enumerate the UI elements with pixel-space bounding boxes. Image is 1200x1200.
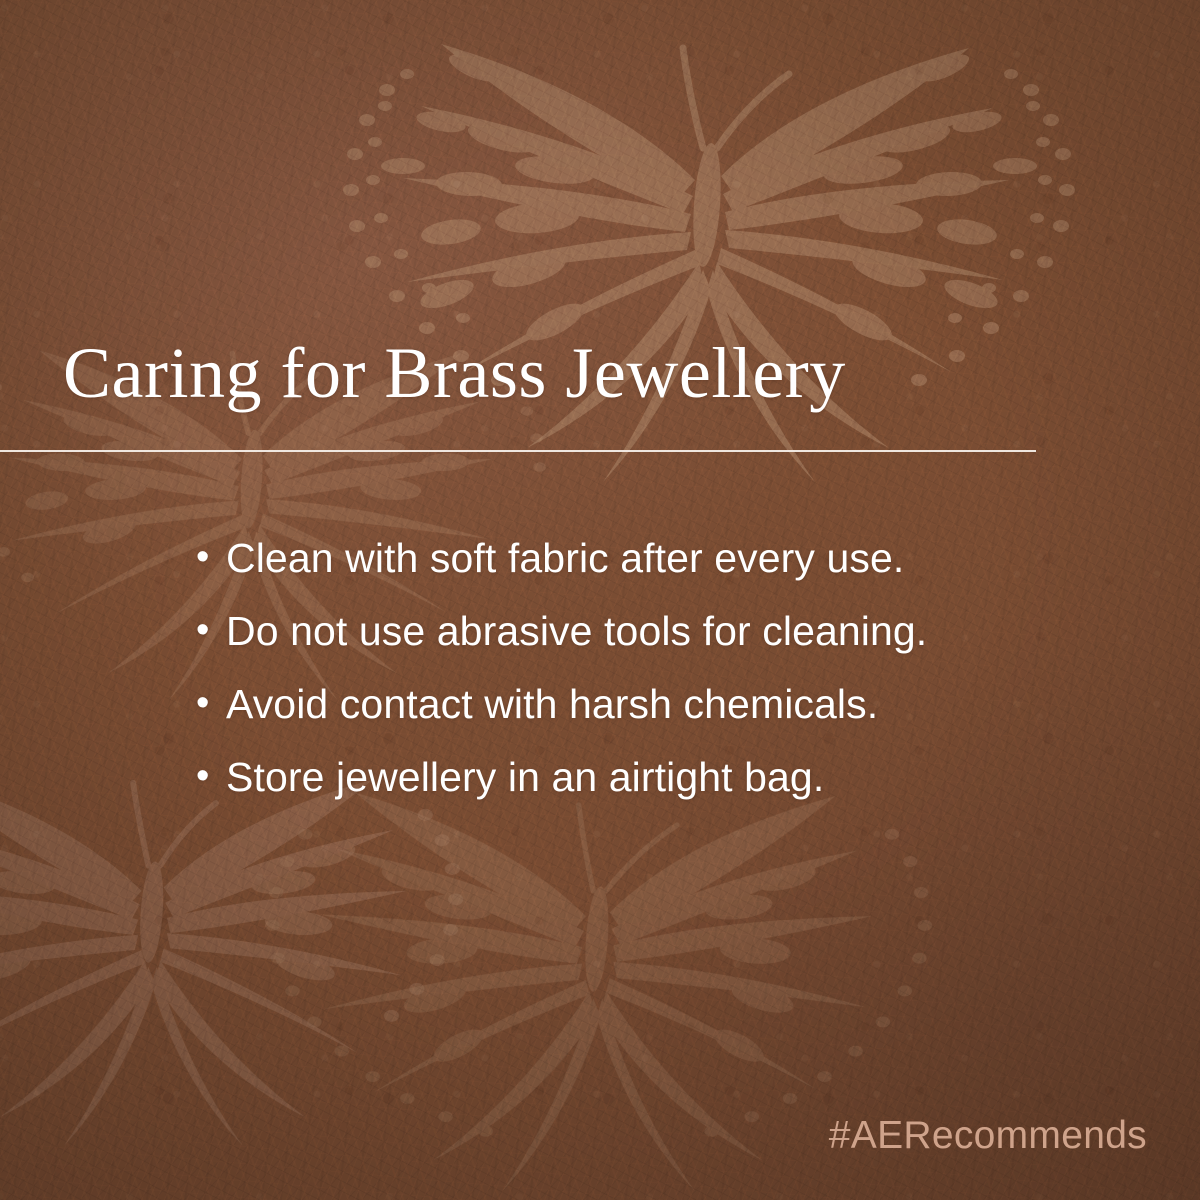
care-instructions-card: Caring for Brass Jewellery • Clean with … (0, 0, 1200, 1200)
card-content: Caring for Brass Jewellery • Clean with … (0, 0, 1200, 1200)
bullet-marker-icon: • (196, 538, 226, 576)
list-item-label: Clean with soft fabric after every use. (226, 538, 904, 579)
list-item: • Avoid contact with harsh chemicals. (196, 684, 1096, 725)
list-item: • Clean with soft fabric after every use… (196, 538, 1096, 579)
list-item-label: Do not use abrasive tools for cleaning. (226, 611, 927, 652)
list-item: • Do not use abrasive tools for cleaning… (196, 611, 1096, 652)
bullet-marker-icon: • (196, 611, 226, 649)
page-title: Caring for Brass Jewellery (63, 336, 846, 412)
title-divider-rule (0, 450, 1036, 452)
care-tips-list: • Clean with soft fabric after every use… (196, 538, 1096, 830)
list-item: • Store jewellery in an airtight bag. (196, 757, 1096, 798)
brand-hashtag: #AERecommends (829, 1114, 1147, 1158)
bullet-marker-icon: • (196, 684, 226, 722)
bullet-marker-icon: • (196, 757, 226, 795)
list-item-label: Store jewellery in an airtight bag. (226, 757, 824, 798)
list-item-label: Avoid contact with harsh chemicals. (226, 684, 878, 725)
